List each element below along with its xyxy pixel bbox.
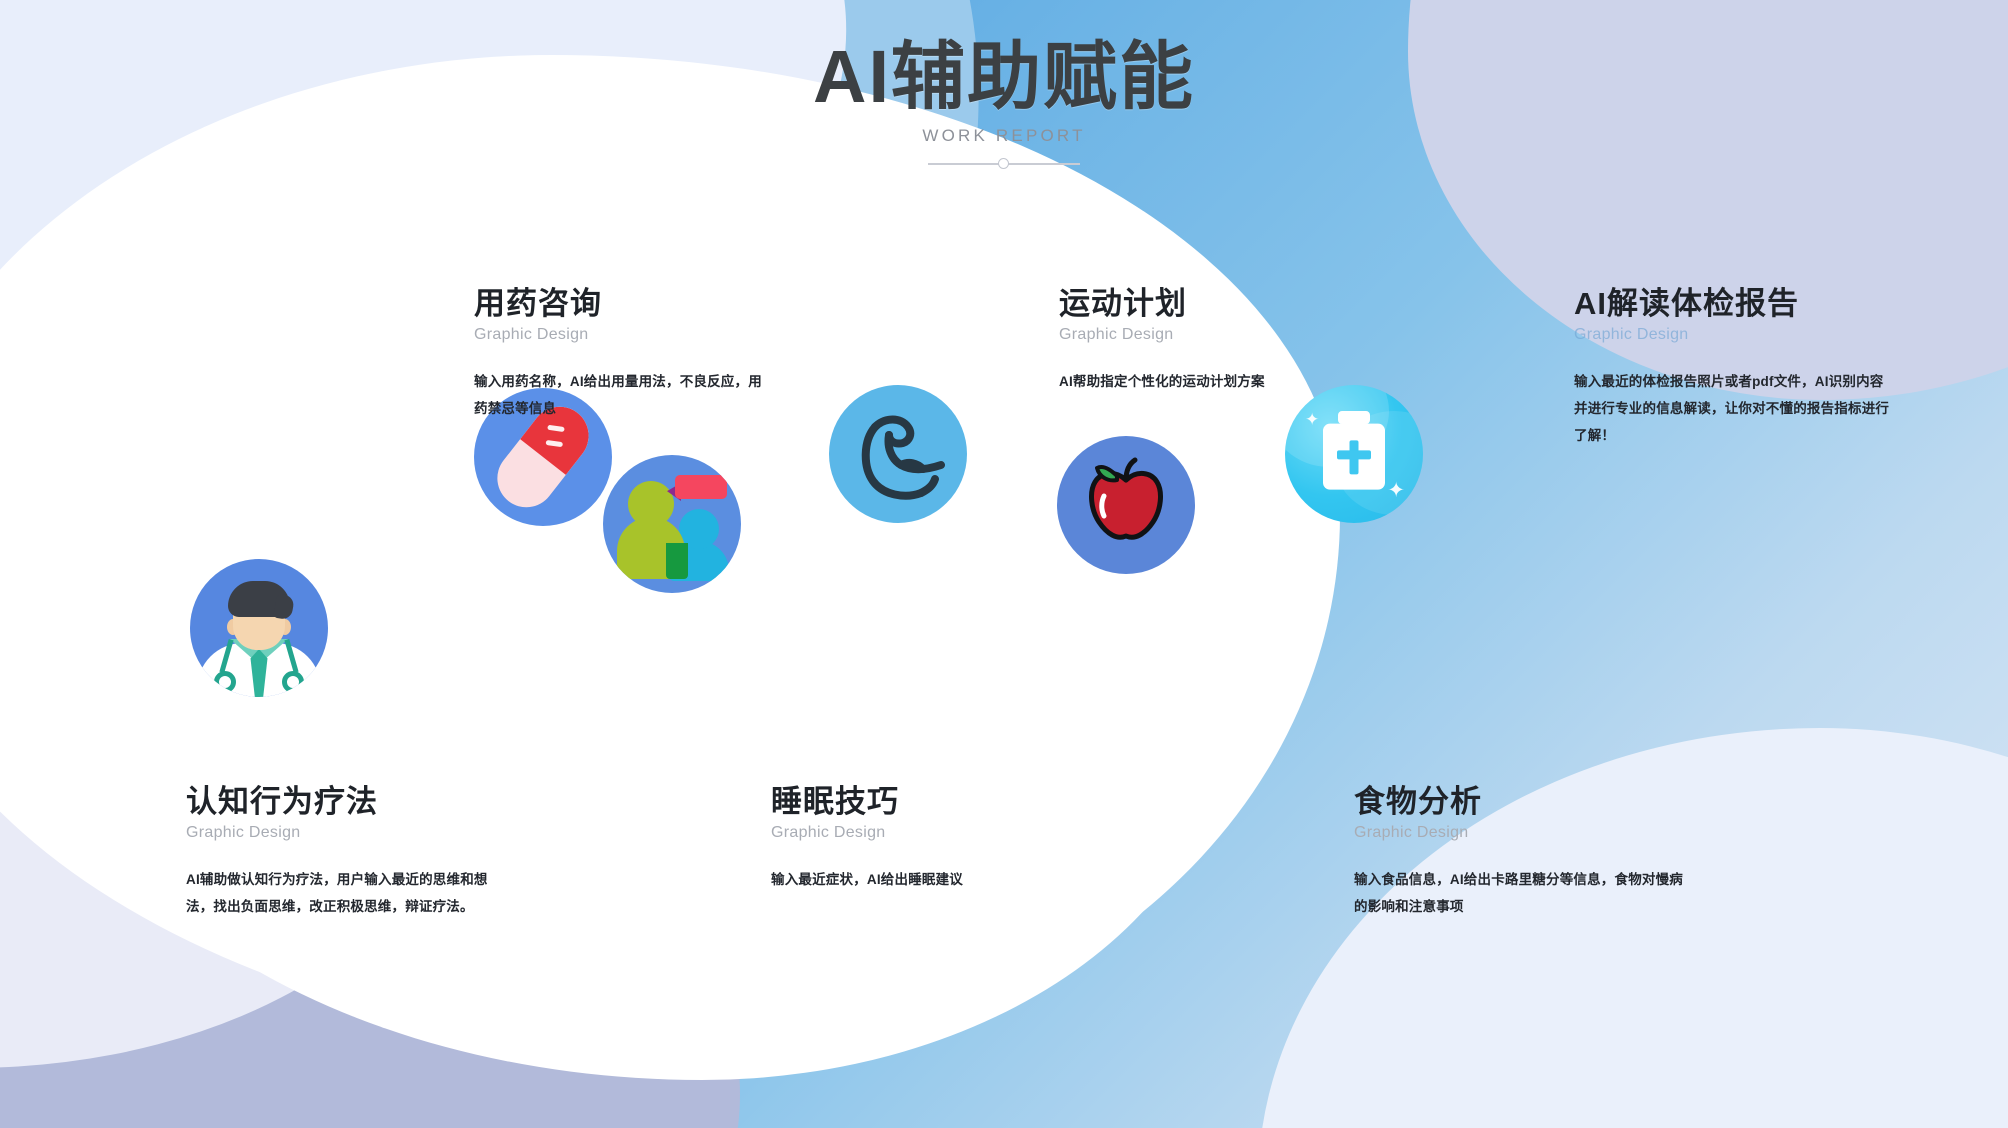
card-subtitle: Graphic Design [186, 824, 511, 842]
card-title: 睡眠技巧 [771, 784, 1051, 820]
apple-glyph [1057, 436, 1195, 574]
card-title: 用药咨询 [474, 286, 774, 322]
card-medication-consult[interactable]: 用药咨询 Graphic Design 输入用药名称，AI给出用量用法，不良反应… [474, 286, 774, 422]
doctor-icon [190, 559, 328, 697]
person-green-head [628, 481, 674, 527]
card-subtitle: Graphic Design [474, 326, 774, 344]
slide-header: AI辅助赋能 WORK REPORT [0, 40, 2008, 170]
card-subtitle: Graphic Design [771, 824, 1051, 842]
muscle-glyph [829, 385, 967, 523]
stethoscope-bell-left [214, 671, 236, 693]
clipboard-clip [1338, 411, 1370, 424]
slide-canvas: AI辅助赋能 WORK REPORT [0, 0, 2008, 1128]
icon-two-people-icon[interactable] [603, 455, 741, 593]
card-title: 认知行为疗法 [186, 784, 511, 820]
card-description: AI辅助做认知行为疗法，用户输入最近的思维和想法，找出负面思维，改正积极思维，辩… [186, 866, 511, 920]
divider-dot-icon [998, 158, 1009, 169]
icon-doctor-icon[interactable] [190, 559, 328, 697]
card-description: AI帮助指定个性化的运动计划方案 [1059, 368, 1319, 395]
medical-cross-horizontal [1337, 450, 1371, 459]
card-sleep-tips[interactable]: 睡眠技巧 Graphic Design 输入最近症状，AI给出睡眠建议 [771, 784, 1051, 893]
card-subtitle: Graphic Design [1574, 326, 1894, 344]
page-subtitle: WORK REPORT [0, 126, 2008, 146]
apple-icon [1057, 436, 1195, 574]
icon-apple-icon[interactable] [1057, 436, 1195, 574]
icon-muscle-icon[interactable] [829, 385, 967, 523]
medical-clipboard-icon: ✦ ✦ [1285, 385, 1423, 523]
sparkle-icon-2: ✦ [1387, 480, 1405, 501]
card-description: 输入最近的体检报告照片或者pdf文件，AI识别内容并进行专业的信息解读，让你对不… [1574, 368, 1894, 449]
card-title: 食物分析 [1354, 784, 1684, 820]
icon-medical-clipboard-icon[interactable]: ✦ ✦ [1285, 385, 1423, 523]
header-divider [928, 158, 1080, 170]
page-title: AI辅助赋能 [0, 40, 2008, 114]
muscle-icon [829, 385, 967, 523]
card-title: AI解读体检报告 [1574, 286, 1894, 322]
card-ai-health-report[interactable]: AI解读体检报告 Graphic Design 输入最近的体检报告照片或者pdf… [1574, 286, 1894, 449]
person-overlap-shadow [666, 543, 688, 579]
card-description: 输入最近症状，AI给出睡眠建议 [771, 866, 1051, 893]
card-exercise-plan[interactable]: 运动计划 Graphic Design AI帮助指定个性化的运动计划方案 [1059, 286, 1319, 395]
speech-bubble-icon [675, 475, 727, 499]
sparkle-icon-1: ✦ [1305, 411, 1319, 428]
doctor-hair [228, 581, 290, 617]
card-cognitive-behavioral-therapy[interactable]: 认知行为疗法 Graphic Design AI辅助做认知行为疗法，用户输入最近… [186, 784, 511, 920]
stethoscope-bell-right [282, 671, 304, 693]
card-title: 运动计划 [1059, 286, 1319, 322]
card-food-analysis[interactable]: 食物分析 Graphic Design 输入食品信息，AI给出卡路里糖分等信息，… [1354, 784, 1684, 920]
card-description: 输入食品信息，AI给出卡路里糖分等信息，食物对慢病的影响和注意事项 [1354, 866, 1684, 920]
two-people-icon [603, 455, 741, 593]
card-subtitle: Graphic Design [1354, 824, 1684, 842]
card-subtitle: Graphic Design [1059, 326, 1319, 344]
card-description: 输入用药名称，AI给出用量用法，不良反应，用药禁忌等信息 [474, 368, 774, 422]
